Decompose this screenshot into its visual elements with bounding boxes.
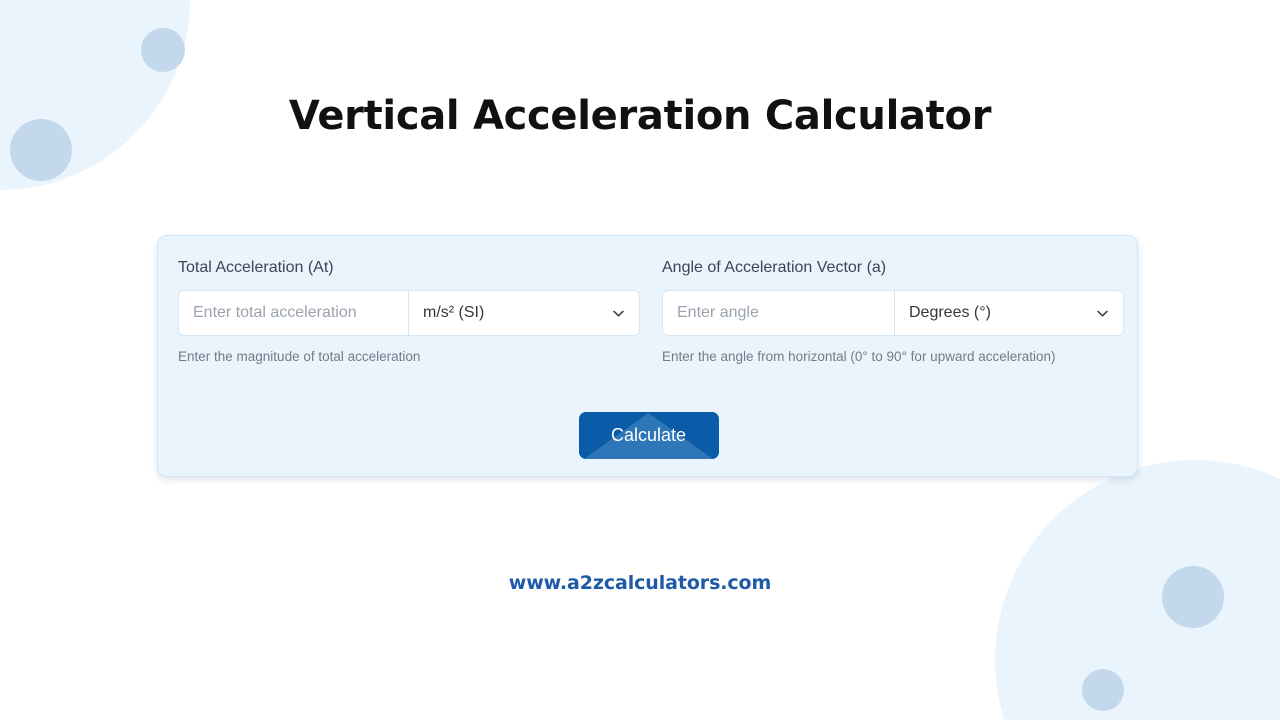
- field-help-total-acceleration: Enter the magnitude of total acceleratio…: [178, 345, 618, 369]
- field-angle: Angle of Acceleration Vector (a) Degrees…: [662, 258, 1124, 369]
- input-group-angle: Degrees (°): [662, 290, 1124, 336]
- angle-unit-value: Degrees (°): [909, 304, 991, 322]
- chevron-down-icon: [611, 306, 626, 321]
- field-label-angle: Angle of Acceleration Vector (a): [662, 258, 1124, 278]
- field-total-acceleration: Total Acceleration (At) m/s² (SI) Enter …: [178, 258, 640, 369]
- angle-input[interactable]: [663, 291, 894, 335]
- calculator-card: Total Acceleration (At) m/s² (SI) Enter …: [157, 235, 1138, 477]
- input-group-total-acceleration: m/s² (SI): [178, 290, 640, 336]
- total-acceleration-input[interactable]: [179, 291, 408, 335]
- footer: www.a2zcalculators.com: [0, 572, 1280, 594]
- calculate-button-row: Calculate: [158, 412, 1139, 459]
- fields-row: Total Acceleration (At) m/s² (SI) Enter …: [178, 258, 1120, 369]
- field-label-total-acceleration: Total Acceleration (At): [178, 258, 640, 278]
- total-acceleration-unit-value: m/s² (SI): [423, 304, 484, 322]
- decor-dot-bottom-right-small: [1082, 669, 1124, 711]
- chevron-down-icon: [1095, 306, 1110, 321]
- total-acceleration-unit-select[interactable]: m/s² (SI): [409, 291, 639, 335]
- calculate-button[interactable]: Calculate: [579, 412, 719, 459]
- page-title: Vertical Acceleration Calculator: [0, 93, 1280, 139]
- angle-unit-select[interactable]: Degrees (°): [895, 291, 1123, 335]
- footer-site-link[interactable]: www.a2zcalculators.com: [509, 572, 771, 594]
- field-help-angle: Enter the angle from horizontal (0° to 9…: [662, 345, 1080, 369]
- calculate-button-label: Calculate: [579, 412, 719, 459]
- decor-dot-top-left-small: [141, 28, 185, 72]
